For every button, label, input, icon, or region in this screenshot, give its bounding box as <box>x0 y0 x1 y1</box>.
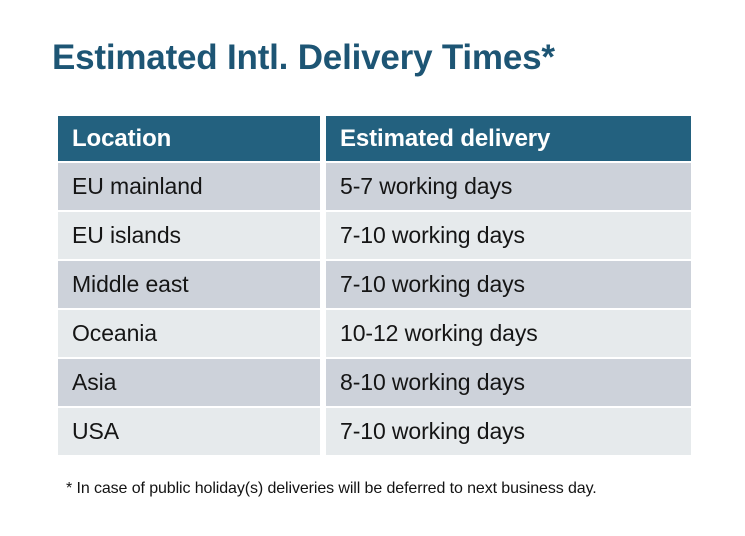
cell-location: EU mainland <box>58 163 320 210</box>
table-row: Asia 8-10 working days <box>58 359 691 406</box>
cell-estimated-delivery: 10-12 working days <box>326 310 691 357</box>
cell-location: Oceania <box>58 310 320 357</box>
table-row: USA 7-10 working days <box>58 408 691 455</box>
table-body: EU mainland 5-7 working days EU islands … <box>58 163 691 455</box>
cell-estimated-delivery: 7-10 working days <box>326 408 691 455</box>
table-header-row: Location Estimated delivery <box>58 116 691 161</box>
column-header-location: Location <box>58 116 320 161</box>
column-header-estimated-delivery: Estimated delivery <box>326 116 691 161</box>
table-row: EU islands 7-10 working days <box>58 212 691 259</box>
delivery-times-page: Estimated Intl. Delivery Times* Location… <box>0 0 745 536</box>
table-header: Location Estimated delivery <box>58 116 691 161</box>
cell-location: USA <box>58 408 320 455</box>
table-row: EU mainland 5-7 working days <box>58 163 691 210</box>
cell-location: Middle east <box>58 261 320 308</box>
page-title: Estimated Intl. Delivery Times* <box>52 36 555 80</box>
delivery-times-table: Location Estimated delivery EU mainland … <box>52 114 697 457</box>
table-row: Middle east 7-10 working days <box>58 261 691 308</box>
cell-location: EU islands <box>58 212 320 259</box>
table-footnote: * In case of public holiday(s) deliverie… <box>66 480 597 498</box>
cell-estimated-delivery: 8-10 working days <box>326 359 691 406</box>
cell-estimated-delivery: 7-10 working days <box>326 212 691 259</box>
cell-estimated-delivery: 7-10 working days <box>326 261 691 308</box>
table-row: Oceania 10-12 working days <box>58 310 691 357</box>
cell-estimated-delivery: 5-7 working days <box>326 163 691 210</box>
cell-location: Asia <box>58 359 320 406</box>
